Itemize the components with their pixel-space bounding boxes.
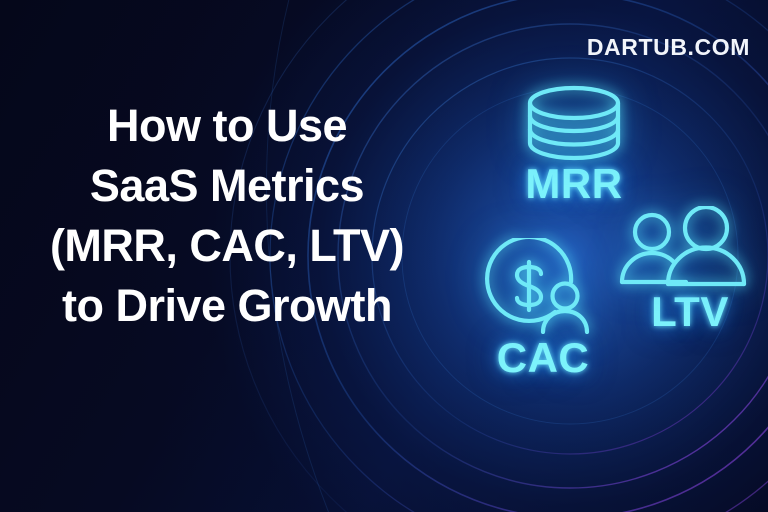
title-line-4: to Drive Growth <box>22 276 432 336</box>
metric-mrr: MRR <box>486 84 662 206</box>
title-line-2: SaaS Metrics <box>22 156 432 216</box>
metric-mrr-label: MRR <box>486 162 662 206</box>
metric-ltv-label: LTV <box>608 290 768 334</box>
metric-ltv: LTV <box>608 206 768 334</box>
dollar-circle-person-icon <box>455 238 631 334</box>
title-line-1: How to Use <box>22 96 432 156</box>
page-title: How to Use SaaS Metrics (MRR, CAC, LTV) … <box>22 96 432 336</box>
two-people-icon <box>608 206 768 292</box>
brand-wordmark: DARTUB.COM <box>587 34 750 61</box>
title-line-3: (MRR, CAC, LTV) <box>22 216 432 276</box>
metric-cac: CAC <box>455 238 631 380</box>
database-icon <box>486 84 662 162</box>
metric-cac-label: CAC <box>455 336 631 380</box>
banner-graphic: DARTUB.COM How to Use SaaS Metrics (MRR,… <box>0 0 768 512</box>
